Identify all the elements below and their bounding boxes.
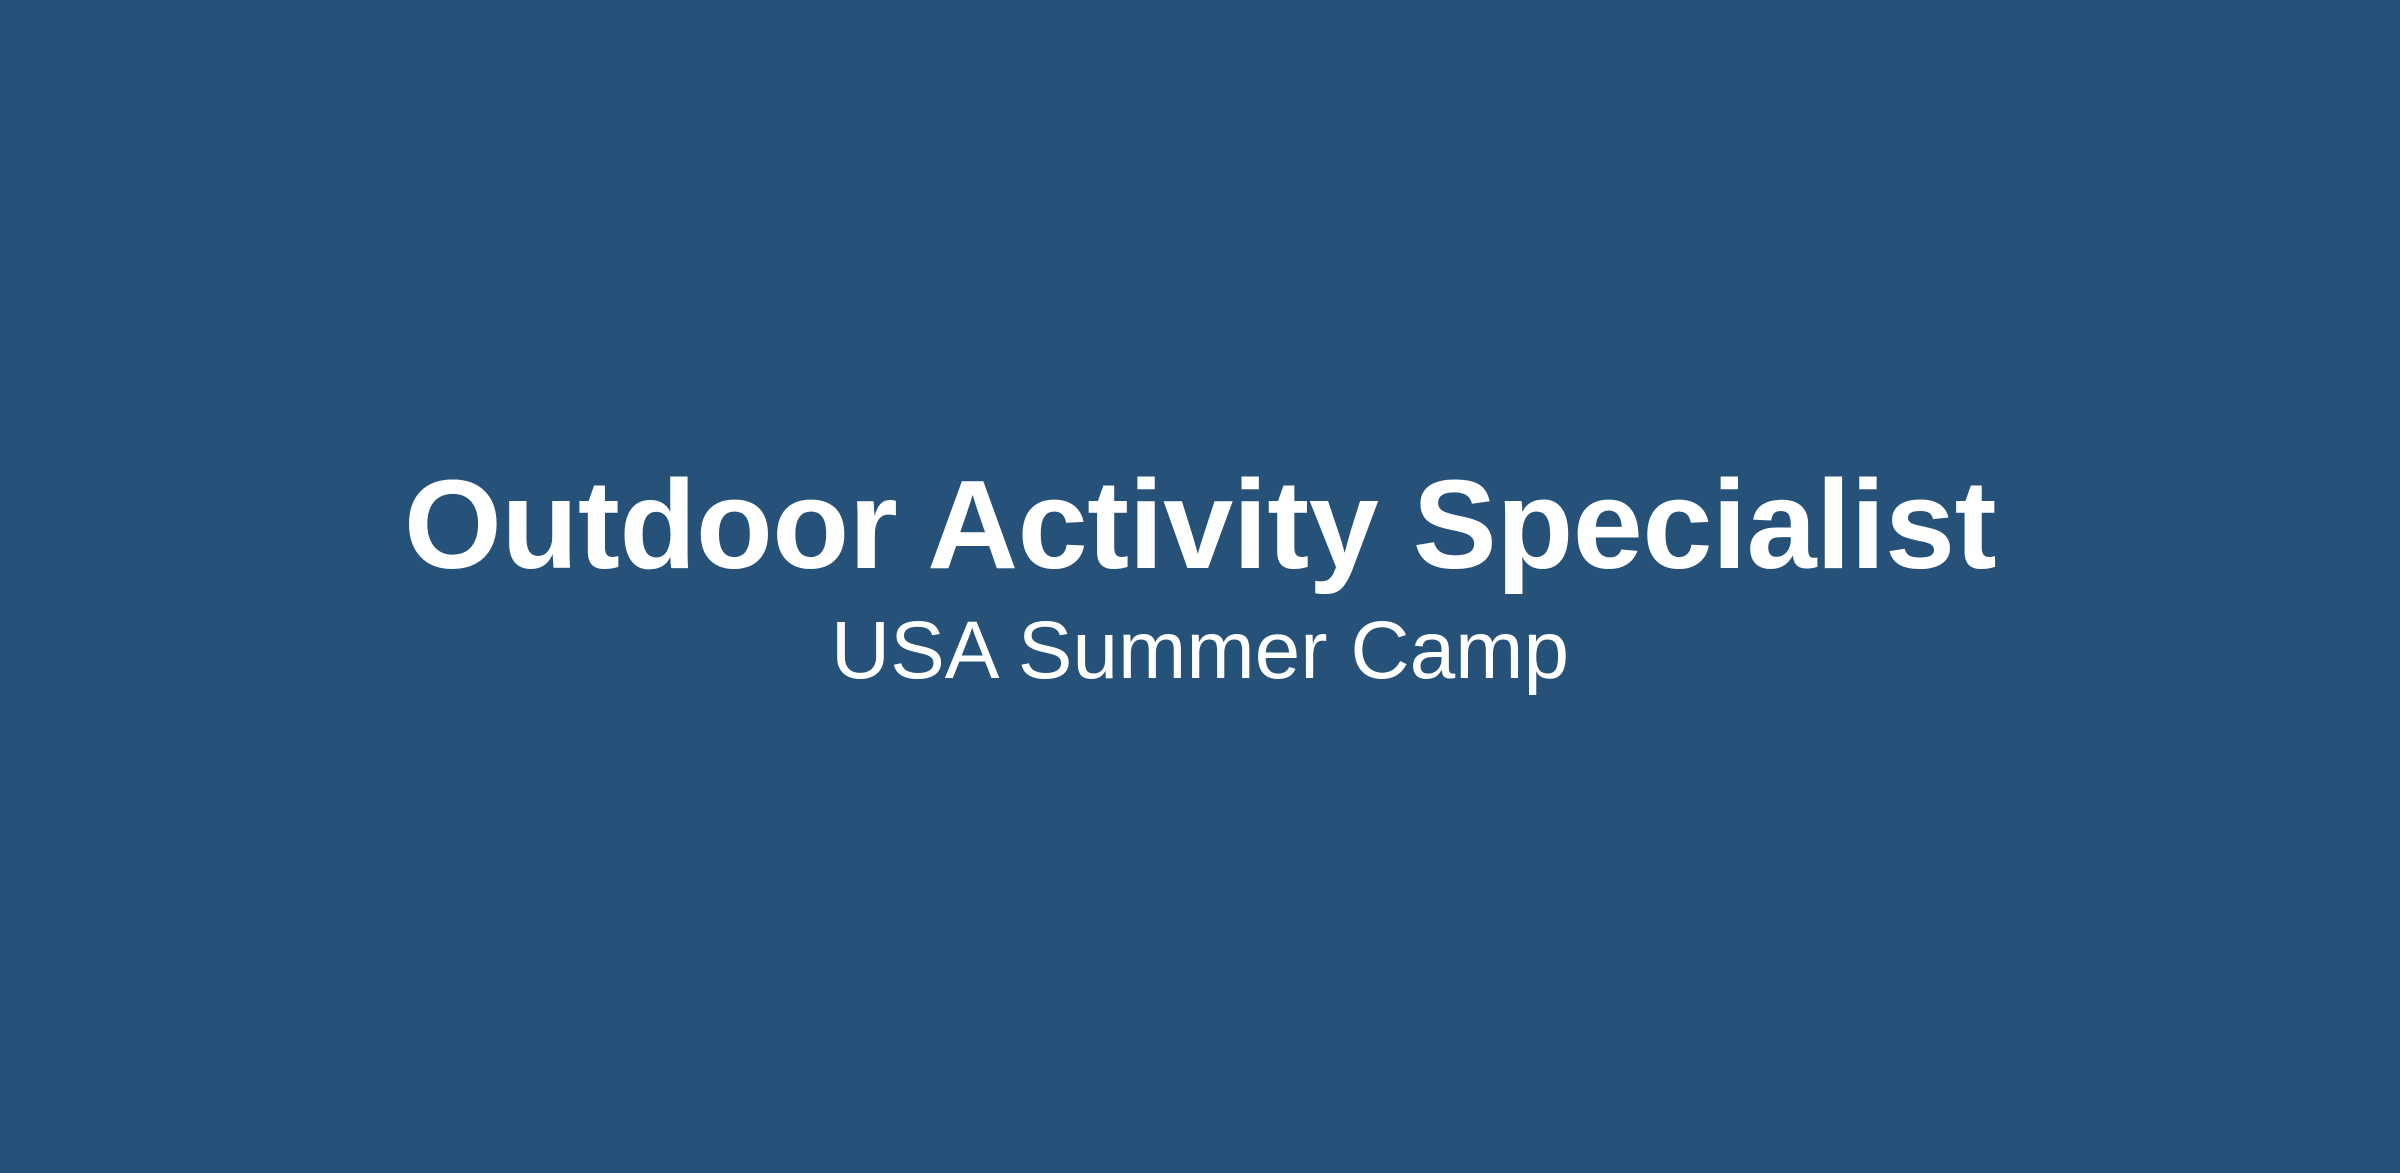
page-subtitle: USA Summer Camp	[831, 610, 1569, 692]
hero-text-block: Outdoor Activity Specialist USA Summer C…	[0, 0, 2400, 692]
hero-banner: Outdoor Activity Specialist USA Summer C…	[0, 0, 2400, 1173]
page-title: Outdoor Activity Specialist	[404, 462, 1996, 588]
